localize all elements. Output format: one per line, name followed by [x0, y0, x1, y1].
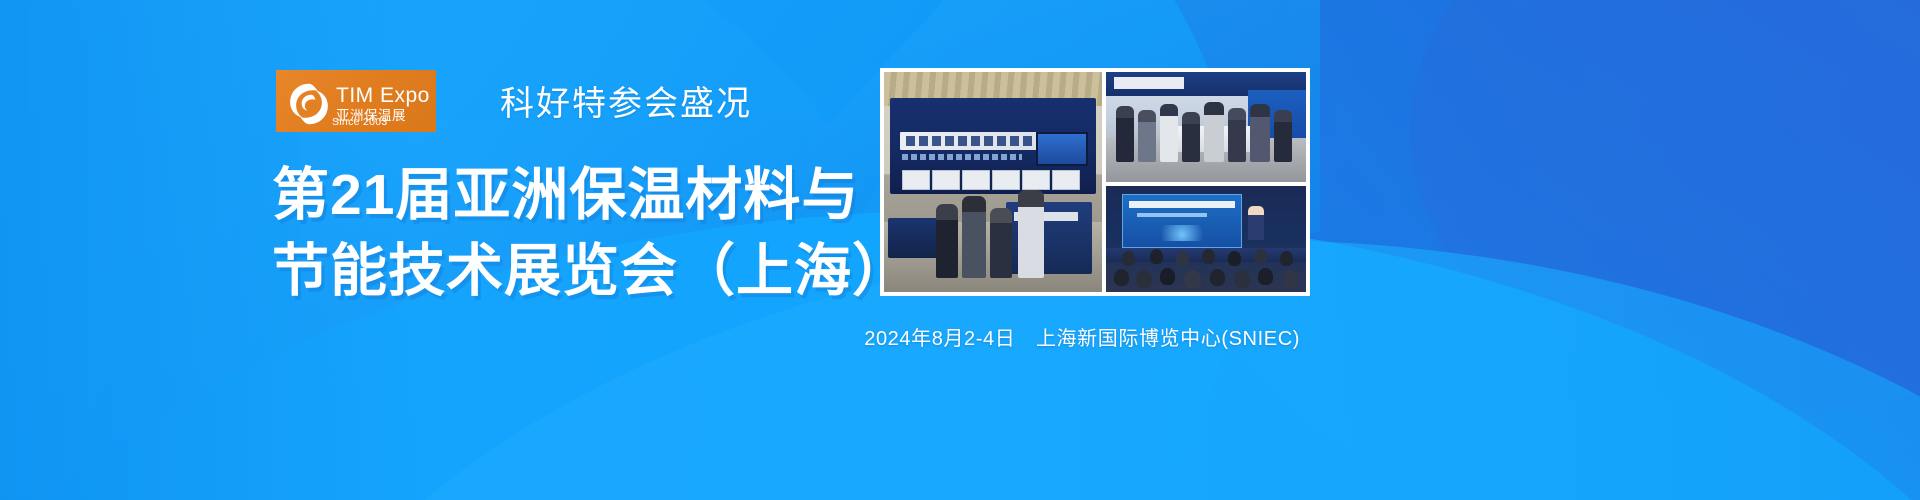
booth-photo: [884, 72, 1102, 292]
booth-backwall: [890, 98, 1096, 194]
booth-product-tile: [902, 170, 930, 190]
forum-presentation-screen: [1122, 194, 1242, 248]
forum-attendee: [1234, 270, 1250, 288]
tim-expo-swirl-icon: [286, 81, 332, 127]
kicker-text: 科好特参会盛况: [500, 76, 752, 125]
forum-attendee: [1150, 249, 1163, 264]
booth-product-tile: [1052, 170, 1080, 190]
logo-since-label: Since 2003: [332, 116, 388, 128]
tim-expo-logo: TIM Expo 亚洲保温展 Since 2003: [276, 70, 436, 132]
booth-product-tile: [962, 170, 990, 190]
booth-banner-text: [900, 132, 1038, 150]
aisle-visitor: [1250, 104, 1270, 162]
exhibition-promo-banner: TIM Expo 亚洲保温展 Since 2003 科好特参会盛况 第21届亚洲…: [0, 0, 1920, 500]
forum-attendee: [1210, 269, 1225, 286]
aisle-visitor: [1160, 104, 1178, 162]
aisle-visitor: [1228, 108, 1246, 162]
forum-speaker: [1248, 206, 1264, 240]
forum-attendee: [1254, 249, 1267, 264]
forum-attendee: [1136, 270, 1152, 288]
booth-screen: [1036, 132, 1088, 166]
booth-product-tile: [992, 170, 1020, 190]
aisle-visitor: [1182, 112, 1200, 162]
booth-visitor: [1018, 190, 1044, 278]
banner-content: TIM Expo 亚洲保温展 Since 2003 科好特参会盛况 第21届亚洲…: [0, 0, 1920, 500]
collage-photo-aisle: [1106, 72, 1306, 182]
aisle-visitor: [1274, 110, 1292, 162]
aisle-visitor: [1204, 102, 1224, 162]
forum-attendee: [1114, 269, 1129, 286]
photo-collage: [880, 68, 1310, 296]
aisle-visitor: [1138, 110, 1156, 162]
forum-attendee: [1122, 251, 1135, 266]
forum-photo: [1106, 186, 1306, 292]
forum-attendee: [1228, 251, 1241, 266]
date-venue-text: 2024年8月2-4日 上海新国际博览中心(SNIEC): [864, 322, 1300, 351]
forum-attendee: [1258, 268, 1273, 285]
forum-attendee: [1160, 268, 1175, 285]
logo-title: TIM Expo: [336, 85, 430, 106]
forum-attendee: [1184, 270, 1201, 289]
headline-line-2: 节能技术展览会（上海）: [272, 234, 910, 310]
page-title: 第21届亚洲保温材料与 节能技术展览会（上海）: [272, 158, 910, 310]
aisle-visitor: [1116, 106, 1134, 162]
booth-banner-subtext: [902, 154, 1022, 160]
headline-line-1: 第21届亚洲保温材料与: [272, 158, 910, 234]
booth-visitor: [962, 196, 986, 278]
forum-attendee: [1176, 251, 1189, 266]
forum-attendee: [1280, 251, 1293, 266]
aisle-photo: [1106, 72, 1306, 182]
forum-attendee: [1202, 249, 1215, 264]
forum-slide-graphic: [1153, 225, 1211, 241]
forum-slide-subtitle: [1137, 213, 1207, 217]
collage-right-column: [1106, 72, 1306, 292]
booth-visitor: [936, 204, 958, 278]
booth-visitor: [990, 208, 1012, 278]
booth-product-tile: [932, 170, 960, 190]
booth-product-tile: [1022, 170, 1050, 190]
collage-photo-booth: [884, 72, 1102, 292]
forum-attendee: [1282, 270, 1298, 288]
collage-photo-forum: [1106, 186, 1306, 292]
forum-slide-title: [1129, 201, 1235, 208]
